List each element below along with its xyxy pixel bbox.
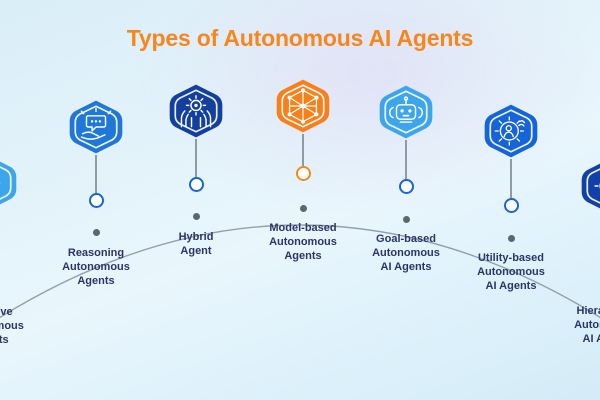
node-label: Utility-based Autonomous AI Agents [451,251,571,293]
node-dot [193,213,200,220]
arc-ring-marker-accent[interactable] [296,166,311,181]
hand-speech-bubble-icon [68,99,124,155]
hexagon-badge-utility-based[interactable] [483,103,539,159]
hexagon-badge-reasoning[interactable] [68,99,124,155]
arc-ring-marker[interactable] [399,179,414,194]
node-label: Hierarchical Autonomous AI Agents [548,304,600,346]
hexagon-badge-hybrid[interactable] [168,83,224,139]
robot-head-icon [378,84,434,140]
network-graph-icon [275,78,331,134]
node-label: Model-based Autonomous Agents [243,221,363,263]
node-dot [93,229,100,236]
hexagon-badge-goal-based[interactable] [378,84,434,140]
hexagon-badge-model-based[interactable] [275,78,331,134]
arc-ring-marker[interactable] [189,177,204,192]
node-dot [300,205,307,212]
node-dot [508,235,515,242]
infographic-canvas: Types of Autonomous AI Agents Reactive A… [0,0,600,400]
node-label: Reactive Autonomous Agents [0,305,62,347]
node-label: Goal-based Autonomous AI Agents [346,232,466,274]
hexagon-badge-hierarchical[interactable] [580,158,600,214]
arc-ring-marker[interactable] [89,193,104,208]
hexagon-badge-reactive[interactable] [0,155,18,211]
gear-network-icon [580,158,600,214]
gear-person-icon [483,103,539,159]
compass-icon [0,155,18,211]
node-label: Hybrid Agent [136,230,256,258]
arc-ring-marker[interactable] [504,198,519,213]
node-dot [403,216,410,223]
hands-gear-icon [168,83,224,139]
